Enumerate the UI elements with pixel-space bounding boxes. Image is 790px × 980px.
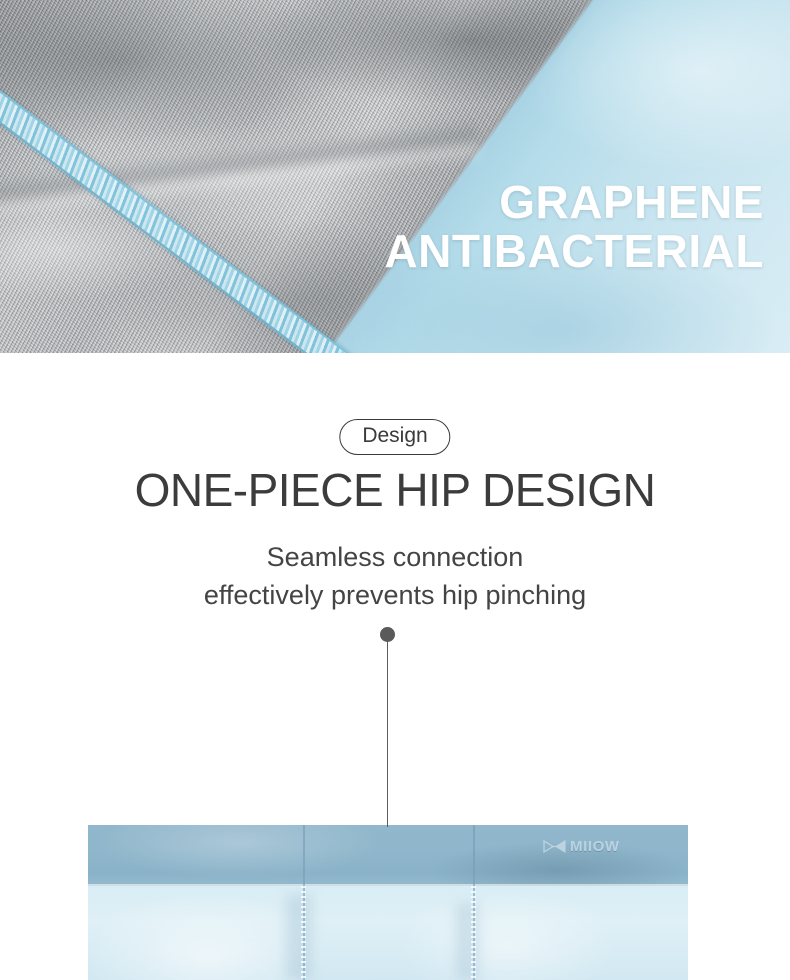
subtitle-line-2: effectively prevents hip pinching [0, 576, 790, 614]
product-drape-shadow [286, 895, 312, 980]
hero-fabric-photo: GRAPHENE ANTIBACTERIAL [0, 0, 790, 353]
design-info-section: Design ONE-PIECE HIP DESIGN Seamless con… [0, 353, 790, 825]
product-detail-page: GRAPHENE ANTIBACTERIAL Design ONE-PIECE … [0, 0, 790, 980]
product-stitching-right [471, 886, 476, 980]
product-body-sheen [88, 886, 688, 980]
design-badge: Design [339, 419, 450, 455]
brand-logo: MIIOW [543, 838, 620, 855]
product-stitching-left [301, 886, 306, 980]
butterfly-logo-icon [543, 839, 567, 854]
subtitle-block: Seamless connection effectively prevents… [0, 538, 790, 615]
page-title: ONE-PIECE HIP DESIGN [0, 463, 790, 517]
callout-marker-dot [380, 627, 395, 642]
brand-name: MIIOW [570, 838, 620, 855]
callout-marker-line [387, 641, 388, 827]
hero-overlay-line-2: ANTIBACTERIAL [384, 227, 764, 276]
product-waistband-sheen [88, 825, 688, 886]
product-waistband-edge [88, 884, 688, 886]
subtitle-line-1: Seamless connection [0, 538, 790, 576]
hero-text-overlay: GRAPHENE ANTIBACTERIAL [384, 178, 764, 276]
hero-overlay-line-1: GRAPHENE [384, 178, 764, 227]
product-photo: MIIOW [88, 825, 688, 980]
